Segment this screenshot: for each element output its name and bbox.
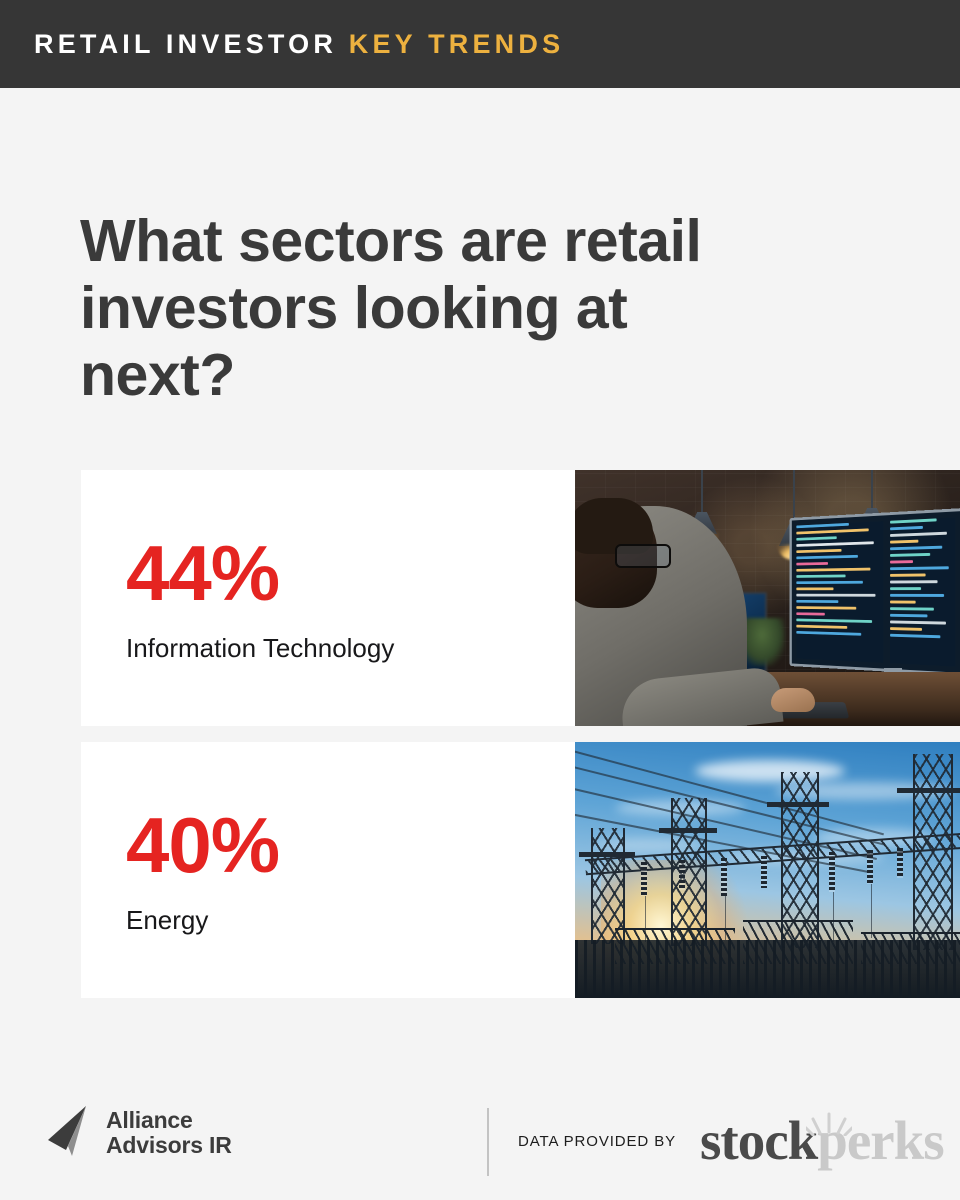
alliance-arrow-icon (44, 1104, 96, 1162)
insulator-string (897, 848, 903, 878)
header-bar: RETAIL INVESTOR KEY TRENDS (0, 0, 960, 88)
insulator-string (679, 860, 685, 890)
stat-card-list: 44% Information Technology (81, 470, 960, 998)
stockperks-stock: stock (700, 1110, 817, 1171)
data-credit-label: DATA PROVIDED BY (518, 1133, 676, 1150)
insulator-string (867, 850, 873, 884)
insulator-string (721, 858, 727, 896)
code-monitor (790, 508, 960, 676)
stat-card-text: 40% Energy (81, 742, 575, 998)
stat-label: Energy (126, 906, 575, 935)
tower-crossarm (579, 852, 635, 857)
lattice-tower (671, 798, 707, 946)
brand-line-two: Advisors IR (106, 1133, 232, 1158)
infographic-page: RETAIL INVESTOR KEY TRENDS What sectors … (0, 0, 960, 1200)
code-pane-right (890, 517, 955, 666)
substation-ground (575, 940, 960, 998)
insulator-string (761, 856, 767, 888)
tower-crossarm (767, 802, 829, 807)
tower-crossarm (659, 828, 717, 833)
stat-card-text: 44% Information Technology (81, 470, 575, 726)
alliance-advisors-logo: Alliance Advisors IR (44, 1104, 232, 1162)
insulator-string (829, 852, 835, 892)
lamp-stem (701, 470, 703, 514)
brand-line-one: Alliance (106, 1108, 232, 1133)
tower-crossarm (897, 788, 960, 793)
page-title: What sectors are retail investors lookin… (80, 208, 720, 410)
stat-card: 40% Energy (81, 742, 960, 998)
footer-divider (487, 1108, 489, 1176)
code-pane-left (796, 521, 883, 663)
developer-head (575, 500, 657, 608)
sparkle-burst-icon (806, 1110, 852, 1136)
insulator-string (641, 862, 647, 896)
stockperks-logo: stockperks (700, 1108, 944, 1174)
power-substation-sunset-photo (575, 742, 960, 998)
lamp-stem (871, 470, 873, 510)
stat-card-image (575, 742, 960, 998)
cloud (695, 760, 845, 782)
stat-value: 40% (126, 806, 575, 884)
stat-card-image (575, 470, 960, 726)
header-title-accent: KEY TRENDS (349, 29, 565, 59)
header-title: RETAIL INVESTOR KEY TRENDS (34, 31, 564, 58)
developer-at-monitor-photo (575, 470, 960, 726)
stat-card: 44% Information Technology (81, 470, 960, 726)
header-title-primary: RETAIL INVESTOR (34, 29, 337, 59)
developer-hand (771, 688, 815, 712)
lattice-tower (913, 754, 953, 950)
drop-line (871, 884, 872, 938)
developer-arm (619, 666, 784, 726)
stat-label: Information Technology (126, 634, 575, 663)
glasses-icon (615, 544, 671, 568)
alliance-advisors-name: Alliance Advisors IR (106, 1108, 232, 1158)
stat-value: 44% (126, 534, 575, 612)
lattice-tower (591, 828, 625, 944)
